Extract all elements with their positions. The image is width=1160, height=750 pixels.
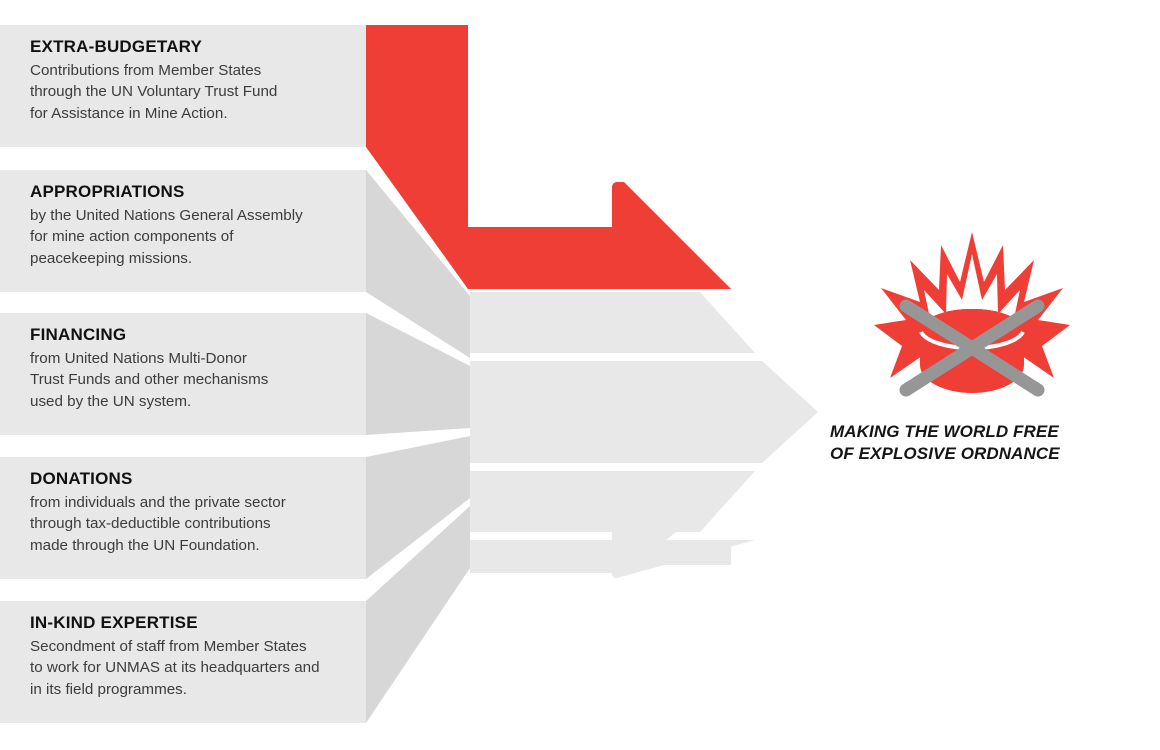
panel-appropriations[interactable]: APPROPRIATIONS by the United Nations Gen… [0,181,366,269]
panel-body-in-kind-expertise: Secondment of staff from Member States t… [30,636,352,701]
crossed-out-landmine-explosion-icon [872,228,1072,413]
infographic-canvas: EXTRA-BUDGETARY Contributions from Membe… [0,0,1160,750]
panel-donations[interactable]: DONATIONS from individuals and the priva… [0,468,366,556]
unmas-logo-block: MAKING THE WORLD FREE OF EXPLOSIVE ORDNA… [830,228,1120,465]
logo-tagline: MAKING THE WORLD FREE OF EXPLOSIVE ORDNA… [830,421,1120,465]
arrow-band-appropriations [470,292,755,353]
panel-title-in-kind-expertise: IN-KIND EXPERTISE [30,612,352,634]
panel-title-financing: FINANCING [30,324,352,346]
panel-financing[interactable]: FINANCING from United Nations Multi-Dono… [0,324,366,412]
panel-body-donations: from individuals and the private sector … [30,492,352,557]
panel-title-appropriations: APPROPRIATIONS [30,181,352,203]
panel-extra-budgetary[interactable]: EXTRA-BUDGETARY Contributions from Membe… [0,36,366,124]
panel-body-extra-budgetary: Contributions from Member States through… [30,60,352,125]
panel-in-kind-expertise[interactable]: IN-KIND EXPERTISE Secondment of staff fr… [0,612,366,700]
arrow-band-financing [470,361,818,463]
panel-body-appropriations: by the United Nations General Assembly f… [30,205,352,270]
panel-title-extra-budgetary: EXTRA-BUDGETARY [30,36,352,58]
panel-body-financing: from United Nations Multi-Donor Trust Fu… [30,348,352,413]
panel-title-donations: DONATIONS [30,468,352,490]
